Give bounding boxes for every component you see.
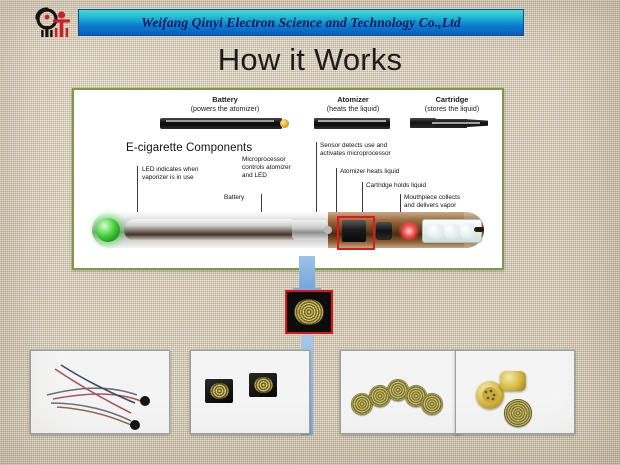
callout-microprocessor: Microprocessor controls atomizer and LED — [242, 156, 291, 181]
led-light — [96, 218, 120, 242]
callout-mouthpiece-line1: Mouthpiece collects — [404, 194, 460, 202]
callout-atomizer-heats-line1: Atomizer heats liquid — [340, 168, 399, 176]
callout-led-leader — [137, 166, 138, 214]
gold-cylinder — [504, 399, 532, 427]
component-atomizer: Atomizer (heats the liquid) — [298, 96, 408, 131]
slide-header: Weifang Qinyi Electron Science and Techn… — [0, 0, 620, 42]
qinyi-company-logo-icon — [34, 6, 76, 39]
square-coil-unit — [249, 373, 277, 397]
square-coil-components-photo — [190, 350, 310, 434]
component-atomizer-desc: (heats the liquid) — [298, 105, 408, 113]
page-title: How it Works — [0, 42, 620, 78]
sensor-part — [376, 222, 392, 240]
callout-battery: Battery — [224, 194, 244, 202]
battery-cell — [292, 220, 328, 240]
coil-disc — [421, 393, 443, 415]
mouthpiece-opening — [474, 227, 484, 232]
callout-led-line1: LED indicates when — [142, 166, 198, 174]
callout-battery-line1: Battery — [224, 194, 244, 202]
callout-led-line2: vaporizer is in use — [142, 174, 198, 182]
component-battery: Battery (powers the atomizer) — [160, 96, 290, 131]
component-cartridge-desc: (stores the liquid) — [400, 105, 504, 113]
round-coil-discs-photo — [340, 350, 460, 434]
component-atomizer-name: Atomizer — [298, 96, 408, 105]
callout-sensor: Sensor detects use and activates micropr… — [320, 142, 391, 158]
callout-atomizer-heats: Atomizer heats liquid — [340, 168, 399, 176]
ecigarette-components-heading: E-cigarette Components — [126, 142, 252, 154]
company-name-banner: Weifang Qinyi Electron Science and Techn… — [78, 9, 524, 36]
callout-microprocessor-line2: controls atomizer — [242, 164, 291, 172]
callout-sensor-line2: activates microprocessor — [320, 150, 391, 158]
component-cartridge-name: Cartridge — [400, 96, 504, 105]
gold-cylinder — [500, 371, 526, 391]
callout-led: LED indicates when vaporizer is in use — [142, 166, 198, 182]
gold-cylinder-components-photo — [455, 350, 575, 434]
wired-coil-components-photo — [30, 350, 170, 434]
cartridge-liquid-chamber — [422, 219, 482, 243]
atomizer-illustration — [314, 115, 408, 131]
cartridge-illustration — [410, 115, 504, 131]
callout-microprocessor-line1: Microprocessor — [242, 156, 291, 164]
component-battery-desc: (powers the atomizer) — [160, 105, 290, 113]
atomizer-glow — [398, 222, 420, 240]
highlight-box — [337, 216, 375, 250]
callout-cartridge-holds-line1: Cartridge holds liquid — [366, 182, 426, 190]
callout-sensor-line1: Sensor detects use and — [320, 142, 391, 150]
highlighted-coil-component — [285, 290, 333, 334]
component-battery-name: Battery — [160, 96, 290, 105]
ecigarette-cutaway-illustration — [92, 208, 484, 252]
square-coil-unit — [205, 379, 233, 403]
zoom-arrow-upper — [299, 256, 315, 292]
callout-microprocessor-line3: and LED — [242, 172, 291, 180]
company-name-text: Weifang Qinyi Electron Science and Techn… — [141, 15, 461, 31]
component-cartridge: Cartridge (stores the liquid) — [400, 96, 504, 131]
how-it-works-diagram-panel: Battery (powers the atomizer) Atomizer (… — [72, 88, 504, 270]
callout-cartridge-holds: Cartridge holds liquid — [366, 182, 426, 190]
battery-illustration — [160, 115, 290, 131]
